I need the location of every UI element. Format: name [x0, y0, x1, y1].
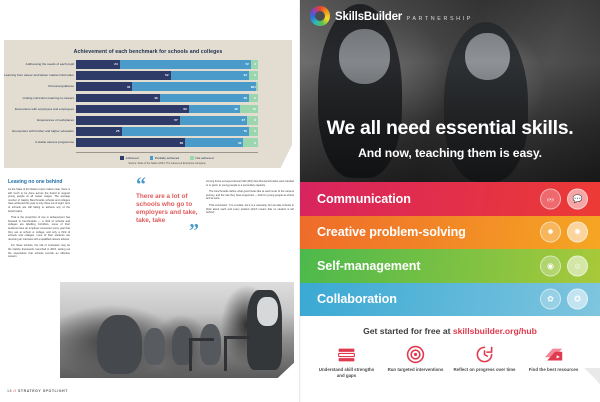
chart-legend-label: Not achieved — [196, 156, 214, 160]
article-paragraph: For these schools, the risk of motivatio… — [8, 244, 70, 258]
skill-band-self-management[interactable]: Self-management◉☺ — [300, 249, 600, 283]
chart-card: Achievement of each benchmark for school… — [4, 40, 292, 168]
chart-bar-label: Linking curriculum learning to careers — [4, 94, 74, 103]
teamwork-badge-icon: ✿ — [540, 289, 561, 310]
hero-headline: We all need essential skills. — [300, 117, 600, 139]
chart-legend-item: Achieved — [120, 156, 138, 160]
chart-segment-value: 49 — [243, 96, 246, 100]
chart-legend-swatch — [150, 156, 153, 159]
chart-segment-value: 1 — [254, 85, 256, 89]
chart-bar-row: Personal guidance31681 — [76, 82, 258, 91]
chart-bar-segment: 72 — [120, 60, 251, 69]
leadership-badge-icon: ✪ — [567, 289, 588, 310]
books-icon — [315, 345, 379, 364]
article-paragraph: That is the proportion of one in achieve… — [8, 216, 70, 241]
chart-bar-label: Addressing the needs of each pupil — [4, 60, 74, 69]
chart-legend-swatch — [190, 156, 193, 159]
skill-band-icons: ✹✺ — [540, 222, 588, 243]
chart-bar-segment: 31 — [76, 82, 132, 91]
chart-bar-label: Learning from career and labour market i… — [4, 71, 74, 80]
chart-bar-label: Encounters with further and higher educa… — [4, 127, 74, 136]
photo-player-4 — [200, 324, 221, 364]
quote-open-mark: “ — [136, 180, 198, 191]
music-stand-pole-1 — [189, 341, 192, 372]
creativity-badge-icon: ✺ — [567, 222, 588, 243]
cta-item[interactable]: Reflect on progress over time — [453, 345, 517, 378]
chart-legend-label: Achieved — [126, 156, 139, 160]
skill-band-communication[interactable]: Communication((•))💬 — [300, 182, 600, 216]
chart-segment-value: 62 — [183, 107, 186, 111]
hero-subheadline: And now, teaching them is easy. — [300, 146, 600, 160]
skill-band-label: Collaboration — [317, 292, 397, 306]
logo-ring-icon — [310, 6, 330, 26]
chart-segment-value: 70 — [243, 129, 246, 133]
chart-segment-value: 24 — [114, 62, 117, 66]
chart-bar-row: A stable careers programme60328 — [76, 138, 258, 147]
cta-item-caption: Understand skill strengths and gaps — [315, 367, 379, 378]
cta-heading: Get started for free at skillsbuilder.or… — [300, 326, 600, 336]
chart-segment-value: 72 — [245, 62, 248, 66]
target-icon — [384, 345, 448, 364]
cta-item[interactable]: Run targeted interventions — [384, 345, 448, 378]
chart-bar-segment: 49 — [160, 94, 249, 103]
chart-segment-value: 10 — [253, 107, 256, 111]
chart-segment-value: 4 — [254, 62, 256, 66]
skill-band-icons: ✿✪ — [540, 289, 588, 310]
skill-band-label: Creative problem-solving — [317, 225, 466, 239]
listening-badge-icon: ((•)) — [540, 188, 561, 209]
chart-legend-item: Not achieved — [190, 156, 213, 160]
article-paragraph: Among those surveyed almost half (44%) f… — [206, 180, 294, 187]
cta-url[interactable]: skillsbuilder.org/hub — [453, 326, 537, 336]
chart-segment-value: 46 — [154, 96, 157, 100]
chart-bar-segment: 1 — [256, 82, 258, 91]
logo-tagline: PARTNERSHIP — [407, 16, 473, 22]
chart-segment-value: 32 — [238, 141, 241, 145]
chart-bar-segment: 70 — [122, 127, 249, 136]
chart-bar-segment: 24 — [76, 60, 120, 69]
staying-positive-badge-icon: ☺ — [567, 255, 588, 276]
chart-bar-segment: 10 — [240, 105, 258, 114]
chart-legend-item: Partially achieved — [150, 156, 180, 160]
chart-segment-value: 8 — [254, 141, 256, 145]
cta-item-caption: Run targeted interventions — [384, 367, 448, 373]
chart-source: Source: State of the Nation 2023, The Ca… — [76, 162, 258, 165]
skill-band-label: Self-management — [317, 259, 420, 273]
chart-segment-value: 6 — [254, 118, 256, 122]
chart-bar-row: Encounters with further and higher educa… — [76, 127, 258, 136]
chart-segment-value: 52 — [165, 73, 168, 77]
chart-bar-segment: 28 — [189, 105, 240, 114]
chart-segment-value: 28 — [234, 107, 237, 111]
chart-segment-value: 5 — [254, 96, 256, 100]
chart-bar-segment: 60 — [76, 138, 185, 147]
chart-bar-segment: 62 — [76, 105, 189, 114]
article-paragraph: As the State of the Nation report makes … — [8, 188, 70, 213]
chart-bar-segment: 6 — [247, 116, 258, 125]
article-column-3: Among those surveyed almost half (44%) f… — [206, 180, 294, 218]
skill-band-icons: ◉☺ — [540, 255, 588, 276]
photo-cellist — [97, 315, 141, 375]
chart-bar-row: Addressing the needs of each pupil24724 — [76, 60, 258, 69]
chart-plot-area: Addressing the needs of each pupil24724L… — [76, 60, 258, 152]
photo-conductor-shirt — [257, 297, 278, 326]
chart-bar-segment: 5 — [249, 71, 258, 80]
skill-band-creative-problem-solving[interactable]: Creative problem-solving✹✺ — [300, 216, 600, 250]
cta-item-caption: Reflect on progress over time — [453, 367, 517, 373]
clock-icon — [453, 345, 517, 364]
aiming-badge-icon: ◉ — [540, 255, 561, 276]
chart-bar-segment: 37 — [180, 116, 247, 125]
speaking-badge-icon: 💬 — [567, 188, 588, 209]
article-paragraph: The benchmarks define what good looks li… — [206, 190, 294, 201]
chart-segment-value: 5 — [254, 73, 256, 77]
problem-solving-badge-icon: ✹ — [540, 222, 561, 243]
chart-legend: AchievedPartially achievedNot achieved — [76, 156, 258, 160]
chart-title: Achievement of each benchmark for school… — [4, 49, 292, 55]
chart-segment-value: 25 — [116, 129, 119, 133]
resources-icon — [522, 345, 586, 364]
skill-band-label: Communication — [317, 192, 411, 206]
footer-section: STRATEGY SPOTLIGHT — [18, 389, 68, 393]
chart-bar-label: Encounters with employers and employees — [4, 105, 74, 114]
chart-bar-segment: 8 — [243, 138, 258, 147]
hero-banner: SkillsBuilder PARTNERSHIP We all need es… — [300, 0, 600, 182]
chart-legend-swatch — [120, 156, 123, 159]
skill-band-icons: ((•))💬 — [540, 188, 588, 209]
chart-bar-label: Personal guidance — [4, 82, 74, 91]
cta-heading-prefix: Get started for free at — [363, 326, 453, 336]
cta-item[interactable]: Understand skill strengths and gaps — [315, 345, 379, 378]
chart-bar-segment: 4 — [251, 60, 258, 69]
chart-bar-segment: 25 — [76, 127, 122, 136]
music-stand-2 — [224, 336, 250, 339]
page-number: 18 — [7, 389, 12, 393]
chart-bar-segment: 52 — [76, 71, 171, 80]
chart-bar-row: Experiences of workplaces57376 — [76, 116, 258, 125]
chart-bar-segment: 43 — [171, 71, 249, 80]
page-footer: 18//STRATEGY SPOTLIGHT — [7, 389, 68, 393]
chart-bar-segment: 5 — [249, 127, 258, 136]
chart-segment-value: 43 — [243, 73, 246, 77]
left-page: Achievement of each benchmark for school… — [0, 0, 300, 402]
cta-section: Get started for free at skillsbuilder.or… — [300, 316, 600, 384]
page-corner-fold — [584, 368, 600, 384]
cta-item-caption: Find the best resources — [522, 367, 586, 373]
chart-bar-row: Encounters with employers and employees6… — [76, 105, 258, 114]
orchestra-photo — [60, 282, 294, 378]
chart-segment-value: 31 — [127, 85, 130, 89]
logo-wordmark: SkillsBuilder PARTNERSHIP — [335, 8, 473, 24]
skill-bands-list: Communication((•))💬Creative problem-solv… — [300, 182, 600, 316]
cta-item[interactable]: Find the best resources — [522, 345, 586, 378]
right-page-advert: SkillsBuilder PARTNERSHIP We all need es… — [300, 0, 600, 402]
chart-bar-row: Linking curriculum learning to careers46… — [76, 94, 258, 103]
chart-axis-line — [76, 152, 258, 153]
chart-bar-row: Learning from career and labour market i… — [76, 71, 258, 80]
cta-items: Understand skill strengths and gapsRun t… — [300, 345, 600, 378]
skill-band-collaboration[interactable]: Collaboration✿✪ — [300, 283, 600, 317]
chart-bar-segment: 32 — [185, 138, 243, 147]
chart-bar-label: Experiences of workplaces — [4, 116, 74, 125]
chart-legend-label: Partially achieved — [155, 156, 179, 160]
magazine-spread: Achievement of each benchmark for school… — [0, 0, 600, 402]
chart-bar-segment: 46 — [76, 94, 160, 103]
chart-bar-segment: 68 — [132, 82, 256, 91]
chart-segment-value: 5 — [254, 129, 256, 133]
article-paragraph: That conclusion: 'It is a subtle, but it… — [206, 204, 294, 215]
chart-segment-value: 60 — [180, 141, 183, 145]
hero-copy: We all need essential skills. And now, t… — [300, 117, 600, 160]
article-heading: Leaving no one behind — [8, 180, 70, 186]
pull-quote: “ There are a lot of schools who go to e… — [136, 180, 198, 237]
skills-builder-logo: SkillsBuilder PARTNERSHIP — [310, 6, 473, 26]
footer-separator: // — [14, 389, 17, 393]
chart-segment-value: 37 — [242, 118, 245, 122]
article-column-1: Leaving no one behind As the State of th… — [8, 180, 70, 262]
chart-bar-label: A stable careers programme — [4, 138, 74, 147]
page-gutter — [299, 0, 301, 402]
logo-name: SkillsBuilder — [335, 11, 402, 23]
music-stand-1 — [189, 338, 215, 341]
chart-bar-segment: 5 — [249, 94, 258, 103]
chart-bar-segment: 57 — [76, 116, 180, 125]
photo-player-2 — [144, 328, 165, 364]
quote-close-mark: ” — [136, 226, 198, 237]
music-stand-pole-2 — [224, 339, 227, 372]
chart-segment-value: 57 — [174, 118, 177, 122]
